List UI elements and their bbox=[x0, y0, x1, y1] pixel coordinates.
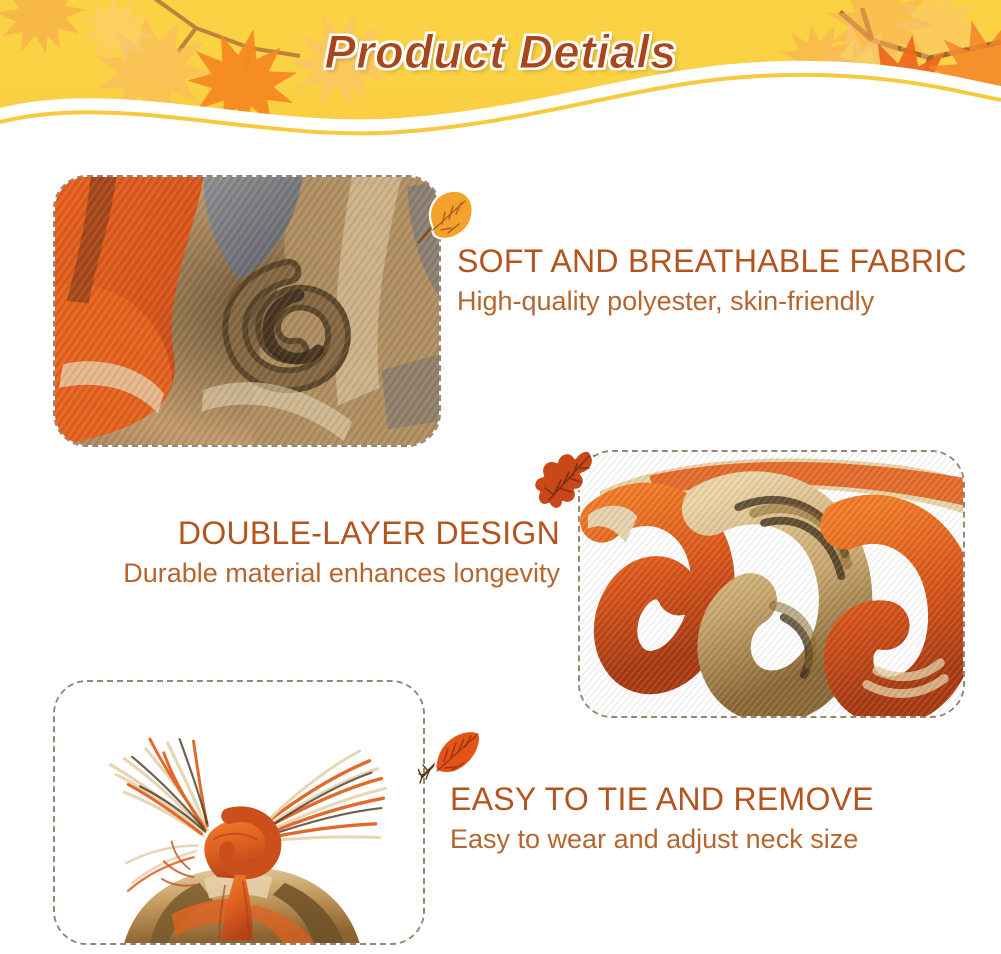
product-photo-knotted-scarf bbox=[53, 680, 425, 945]
product-photo-swirled-fabric bbox=[53, 175, 441, 447]
feature-subtitle: Durable material enhances longevity bbox=[55, 556, 560, 591]
feature-text-easy-tie: EASY TO TIE AND REMOVE Easy to wear and … bbox=[450, 778, 995, 857]
birch-leaf-icon bbox=[411, 186, 477, 248]
product-photo-folded-layers bbox=[578, 450, 965, 718]
feature-text-fabric: SOFT AND BREATHABLE FABRIC High-quality … bbox=[457, 240, 977, 319]
page-title: Product Detials bbox=[0, 24, 1001, 79]
oak-leaf-icon bbox=[531, 448, 603, 518]
header-banner: Product Detials bbox=[0, 0, 1001, 136]
feature-subtitle: High-quality polyester, skin-friendly bbox=[457, 284, 977, 319]
feature-subtitle: Easy to wear and adjust neck size bbox=[450, 822, 995, 857]
feature-title: EASY TO TIE AND REMOVE bbox=[450, 778, 995, 822]
feature-title: DOUBLE-LAYER DESIGN bbox=[55, 512, 560, 556]
feature-title: SOFT AND BREATHABLE FABRIC bbox=[457, 240, 977, 284]
feature-text-double-layer: DOUBLE-LAYER DESIGN Durable material enh… bbox=[55, 512, 560, 591]
pointed-leaf-icon bbox=[418, 727, 486, 785]
